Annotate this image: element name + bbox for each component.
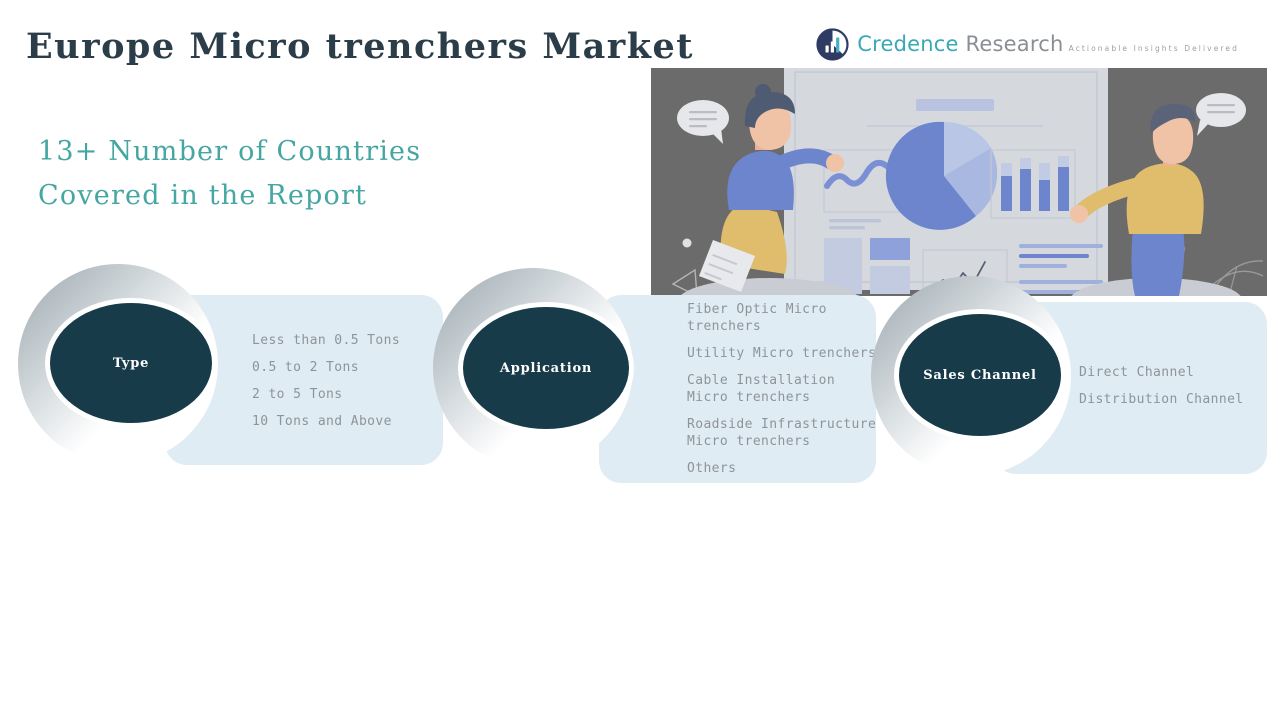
page-subtitle: 13+ Number of Countries Covered in the R… [38,130,421,218]
bar-chart-circle-icon [816,28,849,61]
list-type: Less than 0.5 Tons 0.5 to 2 Tons 2 to 5 … [252,332,442,430]
list-item: Less than 0.5 Tons [252,332,442,349]
list-application: Fiber Optic Micro trenchers Utility Micr… [687,301,882,477]
list-item: Roadside Infrastructure Micro trenchers [687,416,882,450]
list-item: Fiber Optic Micro trenchers [687,301,882,335]
page-title: Europe Micro trenchers Market [26,26,694,67]
list-item: Others [687,460,882,477]
bubble-type[interactable]: Type [50,303,212,423]
list-item: 2 to 5 Tons [252,386,442,403]
list-item: 10 Tons and Above [252,413,442,430]
bubble-application[interactable]: Application [463,307,629,429]
logo-tagline: Actionable Insights Delivered [1069,44,1239,53]
subtitle-line-2: Covered in the Report [38,174,421,218]
list-sales-channel: Direct Channel Distribution Channel [1079,364,1267,408]
logo-word-secondary: Research [966,32,1064,56]
list-item: Distribution Channel [1079,391,1267,408]
list-item: Direct Channel [1079,364,1267,381]
logo-wordmark: Credence Research [857,32,1063,56]
subtitle-line-1: 13+ Number of Countries [38,130,421,174]
list-item: Cable Installation Micro trenchers [687,372,882,406]
brand-logo: Credence Research Actionable Insights De… [816,28,1239,61]
bubble-label-sales-channel: Sales Channel [923,368,1037,383]
bubble-sales-channel[interactable]: Sales Channel [899,314,1061,436]
list-item: 0.5 to 2 Tons [252,359,442,376]
bubble-label-application: Application [500,361,592,376]
bubble-label-type: Type [113,356,149,371]
logo-text: Credence Research Actionable Insights De… [857,34,1239,55]
infographic-canvas: Europe Micro trenchers Market 13+ Number… [0,0,1267,713]
hero-illustration [651,68,1267,296]
logo-word-primary: Credence [857,32,958,56]
list-item: Utility Micro trenchers [687,345,882,362]
